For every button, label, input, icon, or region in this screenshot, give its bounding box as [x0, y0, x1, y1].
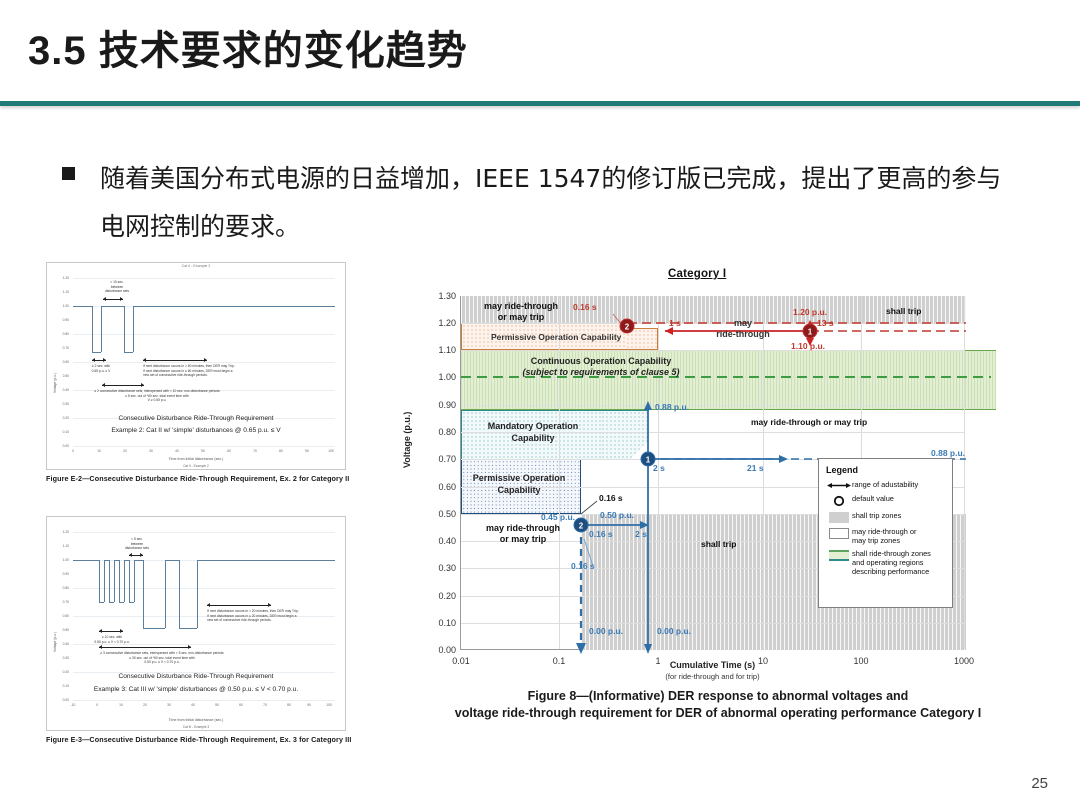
y-axis-tick: 1.10	[438, 345, 456, 355]
figure-e3-trace	[99, 602, 104, 603]
figure-e2-top-label: Cat II - Example 2	[47, 264, 345, 268]
figure-e3-trace	[197, 560, 335, 561]
legend-item: default value	[826, 494, 945, 507]
figure-e3-xtick: 20	[137, 703, 153, 707]
label-000pu-left: 0.00 p.u.	[589, 626, 623, 636]
figure-e2-xtick: 30	[143, 449, 159, 453]
figure-e3-xtick: 10	[113, 703, 129, 707]
figure-e3-trace	[129, 602, 134, 603]
label-may-ride-through-right: may ride-through or may trip	[751, 417, 867, 427]
y-axis-tick: 0.40	[438, 536, 456, 546]
figure-e2-ytick: 0.90	[55, 318, 69, 322]
figure-e2-xtick: 40	[169, 449, 185, 453]
label-050pu: 0.50 p.u.	[600, 510, 634, 520]
figure-e2-ytick: 0.30	[55, 402, 69, 406]
label-may-ride-through: mayride-through	[716, 318, 770, 340]
figure-e3-trace	[179, 560, 180, 628]
figure-e3-range-arrow-icon	[99, 631, 123, 632]
label-016s-low: 0.16 s	[589, 529, 613, 539]
green-swatch-icon	[826, 549, 852, 561]
label-110pu: 1.10 p.u.	[791, 341, 825, 351]
figure-e3-trace	[143, 560, 144, 628]
label-mandatory-operation: Mandatory OperationCapability	[488, 420, 579, 444]
label-1s: 1 s	[669, 318, 681, 328]
figure-e3-title-line1: Consecutive Disturbance Ride-Through Req…	[47, 673, 345, 680]
y-axis-tick: 0.00	[438, 645, 456, 655]
figure-e3-note-left: ≥ 10 sec. with0.50 p.u. ≤ V < 0.70 p.u.	[81, 635, 143, 644]
figure-e3-trace	[109, 602, 114, 603]
figure-e2-x-axis-label: Time from initial disturbance (sec.)	[47, 457, 345, 461]
figure-e2-gridline	[73, 278, 335, 279]
figure-e3-xtick: 90	[301, 703, 317, 707]
figure-e3-range-arrow-icon	[129, 555, 143, 556]
figure-e3-trace	[73, 560, 99, 561]
setpoint-node-1-lower[interactable]: 1	[641, 452, 656, 467]
y-axis-tick: 1.30	[438, 291, 456, 301]
figure-e3-range-arrow-icon	[99, 647, 191, 648]
label-016s-top: 0.16 s	[573, 302, 597, 312]
arrow-head-icon	[576, 643, 586, 654]
figure-e3-ytick: 0.40	[55, 642, 69, 646]
figure-e2-gridline	[73, 362, 335, 363]
legend-item-label: may ride-through ormay trip zones	[852, 527, 917, 545]
label-088pu-left: 0.88 p.u.	[655, 402, 689, 412]
figure-e2-plot: Cat II - Example 2 Voltage (p.u.) 1.20 1…	[46, 262, 346, 470]
setpoint-node-1-upper[interactable]: 1	[803, 324, 818, 339]
figure-e3-trace	[197, 560, 198, 628]
arrow-head-icon	[644, 401, 652, 410]
setpoint-node-2-lower[interactable]: 2	[574, 518, 589, 533]
y-axis-tick: 0.10	[438, 618, 456, 628]
figure-e3-gridline	[73, 588, 335, 589]
figure-e3-trace	[119, 560, 120, 602]
figure-e2-xtick: 90	[299, 449, 315, 453]
figure-e2-trace	[133, 306, 134, 352]
figure-e3-trace	[165, 560, 166, 628]
label-120pu: 1.20 p.u.	[793, 307, 827, 317]
figure-e3-ytick: 0.80	[55, 586, 69, 590]
figure-e3-x-axis-label: Time from initial disturbance (sec.)	[47, 718, 345, 722]
figure-e2-range-arrow-icon	[143, 360, 207, 361]
figure-e3-trace	[129, 560, 130, 602]
setpoint-node-2-upper[interactable]: 2	[620, 319, 635, 334]
label-shall-trip-upper: shall trip	[886, 306, 921, 316]
figure-e2-xtick: 50	[195, 449, 211, 453]
figure-e2-range-arrow-icon	[92, 360, 106, 361]
legend-title: Legend	[826, 465, 945, 475]
figure-e2-caption: Figure E-2—Consecutive Disturbance Ride-…	[46, 474, 346, 483]
figure-e2-ytick: 1.20	[55, 276, 69, 280]
bullet-marker-icon	[62, 167, 75, 180]
x-axis-title: Cumulative Time (s)	[460, 660, 965, 670]
label-2s-top: 2 s	[653, 463, 665, 473]
label-016s-mid: 0.16 s	[599, 493, 623, 503]
circle-icon	[826, 494, 852, 507]
figure-e3-ytick: 1.10	[55, 544, 69, 548]
label-continuous-operation: Continuous Operation Capability(subject …	[522, 356, 679, 378]
figure8-caption-line1: Figure 8—(Informative) DER response to a…	[418, 688, 1018, 705]
figure-e3-xtick: 40	[185, 703, 201, 707]
x-axis-subtitle: (for ride-through and for trip)	[460, 672, 965, 681]
label-13s: 13 s	[817, 318, 834, 328]
figure-e2-gridline	[73, 446, 335, 447]
figure-e2-ytick: 0.40	[55, 388, 69, 392]
figure-e2-xtick: 0	[65, 449, 81, 453]
figure-e2: Cat II - Example 2 Voltage (p.u.) 1.20 1…	[46, 262, 346, 483]
figure-e3-trace	[165, 560, 179, 561]
figure-e3-title-line2: Example 3: Cat III w/ 'simple' disturban…	[47, 686, 345, 693]
figure-e3-gridline	[73, 700, 335, 701]
figure-e3-ytick: 0.90	[55, 572, 69, 576]
figure-e3-trace	[104, 560, 105, 602]
figure-e3-xtick: 80	[281, 703, 297, 707]
figure-e3-ytick: 0.70	[55, 600, 69, 604]
legend-item: shall trip zones	[826, 511, 945, 523]
figure-e3-trace	[114, 560, 115, 602]
figure-e2-trace	[92, 306, 93, 352]
figure-e2-series-legend: Cat II - Example 2	[47, 464, 345, 468]
figure-e2-trace	[124, 352, 133, 353]
figure-e3-ytick: 0.00	[55, 698, 69, 702]
figure-e2-ytick: 0.60	[55, 360, 69, 364]
figure-e2-trace	[73, 306, 92, 307]
figure-e2-range-arrow-icon	[102, 385, 144, 386]
figure-e2-note-top: < 10 sec.betweendisturbance sets	[87, 280, 147, 294]
leader-line	[581, 501, 597, 514]
figure-e2-trace	[92, 352, 101, 353]
y-axis-tick: 1.00	[438, 372, 456, 382]
figure-e3-range-arrow-icon	[207, 605, 271, 606]
figure-e3-trace	[179, 628, 197, 629]
label-2s-mid: 2 s	[635, 529, 647, 539]
figure-e3-ytick: 1.20	[55, 530, 69, 534]
label-shall-trip-mid: shall trip	[701, 539, 736, 549]
legend-item-label: range of adustability	[852, 480, 918, 489]
y-axis-tick: 0.20	[438, 591, 456, 601]
figure-e3-plot: Voltage (p.u.) 1.20 1.10 1.00 0.90 0.80 …	[46, 516, 346, 731]
figure-e3-ytick: 0.50	[55, 628, 69, 632]
figure-e2-trace	[124, 306, 125, 352]
y-axis-tick: 0.90	[438, 400, 456, 410]
figure-e3-trace	[134, 560, 143, 561]
legend-item: may ride-through ormay trip zones	[826, 527, 945, 545]
figure-e3-ytick: 0.30	[55, 656, 69, 660]
figure-e2-trace	[101, 306, 124, 307]
figure-e2-note-left: ≥ 2 sec. with0.65 p.u. ≤ V	[77, 364, 125, 373]
figure-e3-ytick: 0.60	[55, 614, 69, 618]
arrow-head-icon	[665, 327, 673, 335]
label-088pu-right: 0.88 p.u.	[931, 448, 965, 458]
category-title: Category I	[668, 268, 726, 280]
figure-e2-xtick: 20	[117, 449, 133, 453]
figure-e2-note-right: If next disturbance occurs in > 60 minut…	[143, 364, 235, 378]
page-number: 25	[1031, 775, 1048, 792]
figure-e3-trace	[124, 560, 125, 602]
legend-item: shall ride-through zonesand operating re…	[826, 549, 945, 576]
y-axis-tick: 0.30	[438, 563, 456, 573]
figure-e2-xtick: 80	[273, 449, 289, 453]
double-arrow-icon	[826, 480, 852, 490]
figure-e2-ytick: 0.50	[55, 374, 69, 378]
figure-e2-range-arrow-icon	[103, 299, 123, 300]
figure-e2-xtick: 60	[221, 449, 237, 453]
figure-e3-trace	[143, 628, 165, 629]
figure-e2-trace	[101, 306, 102, 352]
label-016s-vert: 0.16 s	[571, 561, 595, 571]
figure-e2-xtick: 70	[247, 449, 263, 453]
white-swatch-icon	[826, 527, 852, 539]
label-21s: 21 s	[747, 463, 764, 473]
page-title: 3.5 技术要求的变化趋势	[28, 18, 468, 76]
figure-e2-ytick: 0.00	[55, 444, 69, 448]
label-045pu: 0.45 p.u.	[541, 512, 575, 522]
figure-e3-trace	[109, 560, 110, 602]
y-axis-title: Voltage (p.u.)	[402, 412, 412, 468]
figure8-caption: Figure 8—(Informative) DER response to a…	[418, 688, 1018, 722]
figure-e2-ytick: 0.70	[55, 346, 69, 350]
label-permissive-lower: Permissive OperationCapability	[473, 472, 566, 496]
legend-item-label: default value	[852, 494, 894, 503]
label-000pu-right: 0.00 p.u.	[657, 626, 691, 636]
figure-e2-gridline	[73, 334, 335, 335]
figure-e3-note-bottom: ≥ 3 consecutive disturbance sets, inters…	[77, 651, 247, 665]
label-permissive-upper: Permissive Operation Capability	[491, 332, 621, 342]
legend-item-label: shall ride-through zonesand operating re…	[852, 549, 931, 576]
bullet-block: 随着美国分布式电源的日益增加，IEEE 1547的修订版已完成，提出了更高的参与…	[62, 155, 1022, 251]
arrow-head-icon	[644, 644, 652, 654]
gray-swatch-icon	[826, 511, 852, 523]
figure-e3-note-right: If next disturbance occurs in > 20 minut…	[207, 609, 299, 623]
figure-e3-xtick: 0	[89, 703, 105, 707]
figure8-caption-line2: voltage ride-through requirement for DER…	[418, 705, 1018, 722]
figure-e3-trace	[119, 602, 124, 603]
figure-e2-xtick: 10	[91, 449, 107, 453]
legend-item-label: shall trip zones	[852, 511, 901, 520]
label-may-ride-through-upper: may ride-throughor may trip	[484, 301, 558, 323]
figure-e3-xtick: 50	[209, 703, 225, 707]
figure-e3-ytick: 1.00	[55, 558, 69, 562]
title-divider	[0, 101, 1080, 106]
figure-e2-ytick: 1.10	[55, 290, 69, 294]
chart-legend: Legend range of adustability default val…	[818, 458, 953, 608]
figure-e3-gridline	[73, 532, 335, 533]
figure-e3-xtick: 100	[321, 703, 337, 707]
figure-e3-trace	[134, 560, 135, 602]
figure-e2-xtick: 100	[323, 449, 339, 453]
figure-e3-trace	[99, 560, 100, 602]
figure-e3-xtick: -10	[65, 703, 81, 707]
y-axis-tick: 0.60	[438, 482, 456, 492]
figure-e3-xtick: 60	[233, 703, 249, 707]
figure-e2-trace	[133, 306, 335, 307]
y-axis-tick: 1.20	[438, 318, 456, 328]
y-axis-tick: 0.80	[438, 427, 456, 437]
figure-e2-title-line1: Consecutive Disturbance Ride-Through Req…	[47, 415, 345, 422]
figure-e3-xtick: 30	[161, 703, 177, 707]
figure-e3-series-legend: Cat III - Example 3	[47, 725, 345, 729]
figure-e3-note-top: < 5 sec.betweendisturbance sets	[107, 537, 167, 551]
y-axis-tick: 0.70	[438, 454, 456, 464]
legend-item: range of adustability	[826, 480, 945, 490]
figure-e3: Voltage (p.u.) 1.20 1.10 1.00 0.90 0.80 …	[46, 516, 346, 744]
y-axis-tick: 0.50	[438, 509, 456, 519]
figure-e3-xtick: 70	[257, 703, 273, 707]
figure-e2-note-bottom: ≥ 2 consecutive disturbance sets, inters…	[77, 389, 237, 403]
label-may-ride-through-lower: may ride-throughor may trip	[486, 523, 560, 545]
figure-e2-ytick: 0.80	[55, 332, 69, 336]
figure-e3-caption: Figure E-3—Consecutive Disturbance Ride-…	[46, 735, 346, 744]
bullet-text: 随着美国分布式电源的日益增加，IEEE 1547的修订版已完成，提出了更高的参与…	[100, 155, 1022, 251]
figure-e2-ytick: 1.00	[55, 304, 69, 308]
figure-e2-title-line2: Example 2: Cat II w/ 'simple' disturbanc…	[47, 427, 345, 434]
